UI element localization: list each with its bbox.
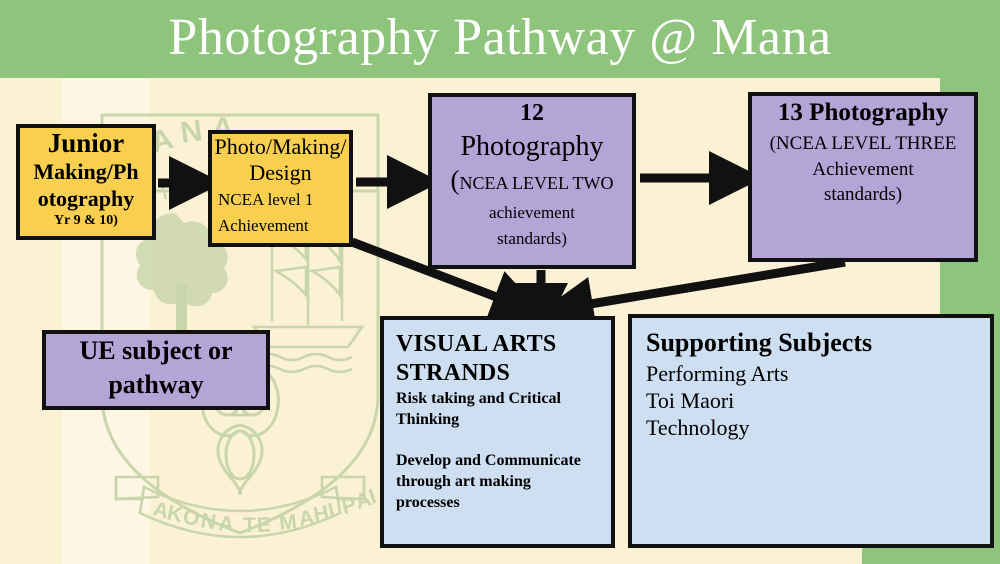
level11-subject-line2: Design <box>212 160 349 186</box>
level12-subject: Photography <box>432 130 632 164</box>
level12-level-text: NCEA LEVEL TWO <box>460 173 614 193</box>
svg-text:N: N <box>199 509 217 534</box>
level11-subject-line1: Photo/Making/ <box>212 134 349 160</box>
junior-year-range: Yr 9 & 10) <box>20 212 152 230</box>
visual-arts-para1-line1: Risk taking and Critical <box>396 388 599 409</box>
svg-text:M: M <box>278 510 298 535</box>
svg-text:A: A <box>218 512 235 536</box>
level13-line2: Achievement <box>752 157 974 182</box>
level13-line3: standards) <box>752 182 974 207</box>
box-supporting-subjects[interactable]: Supporting Subjects Performing Arts Toi … <box>628 314 994 548</box>
visual-arts-paragraph-spacer <box>396 430 599 450</box>
level12-line4: standards) <box>432 227 632 251</box>
junior-title: Junior <box>20 128 152 158</box>
level12-ncea-level: (NCEA LEVEL TWO <box>432 164 632 199</box>
supporting-subject-item-technology: Technology <box>646 414 990 441</box>
box-junior-making-photography[interactable]: Junior Making/Ph otography Yr 9 & 10) <box>16 124 156 240</box>
level11-body-line1: NCEA level 1 <box>212 187 349 212</box>
svg-text:T: T <box>243 514 256 537</box>
supporting-subject-item-performing-arts: Performing Arts <box>646 360 990 387</box>
visual-arts-heading-line1: VISUAL ARTS <box>396 330 599 359</box>
box-level12-photography[interactable]: 12 Photography (NCEA LEVEL TWO achieveme… <box>428 93 636 269</box>
junior-line3: otography <box>20 185 152 212</box>
header-bar: Photography Pathway @ Mana <box>0 0 1000 78</box>
level11-number: 11 <box>208 130 353 136</box>
svg-text:O: O <box>181 505 201 530</box>
svg-text:E: E <box>256 514 271 537</box>
page-title: Photography Pathway @ Mana <box>0 2 1000 74</box>
supporting-subject-item-toi-maori: Toi Maori <box>646 387 990 414</box>
visual-arts-para1-line2: Thinking <box>396 409 599 430</box>
box-level13-photography[interactable]: 13 Photography (NCEA LEVEL THREE Achieve… <box>748 92 978 262</box>
level12-open-paren: ( <box>451 165 460 195</box>
box-level11-photo-making-design[interactable]: 11 Photo/Making/ Design NCEA level 1 Ach… <box>208 130 353 247</box>
junior-line2: Making/Ph <box>20 158 152 185</box>
level11-body-line2: Achievement <box>212 213 349 238</box>
level13-heading: 13 Photography <box>752 96 974 130</box>
visual-arts-heading-line2: STRANDS <box>396 359 599 388</box>
crest-arc-text-n: N <box>178 114 204 150</box>
visual-arts-para2-line2: through art making <box>396 471 599 492</box>
visual-arts-para2-line1: Develop and Communicate <box>396 450 599 471</box>
visual-arts-para2-line3: processes <box>396 492 599 513</box>
level11-body-line3: Standards <box>212 239 349 247</box>
slide-canvas: M A N A <box>0 0 1000 564</box>
ue-line2: pathway <box>46 368 266 402</box>
box-visual-arts-strands[interactable]: VISUAL ARTS STRANDS Risk taking and Crit… <box>380 316 615 548</box>
level13-line1: (NCEA LEVEL THREE <box>752 130 974 157</box>
box-ue-subject-or-pathway[interactable]: UE subject or pathway <box>42 330 270 410</box>
ue-line1: UE subject or <box>46 334 266 368</box>
level12-line3: achievement <box>432 199 632 227</box>
supporting-subjects-heading: Supporting Subjects <box>646 326 990 360</box>
level12-number: 12 <box>432 97 632 130</box>
